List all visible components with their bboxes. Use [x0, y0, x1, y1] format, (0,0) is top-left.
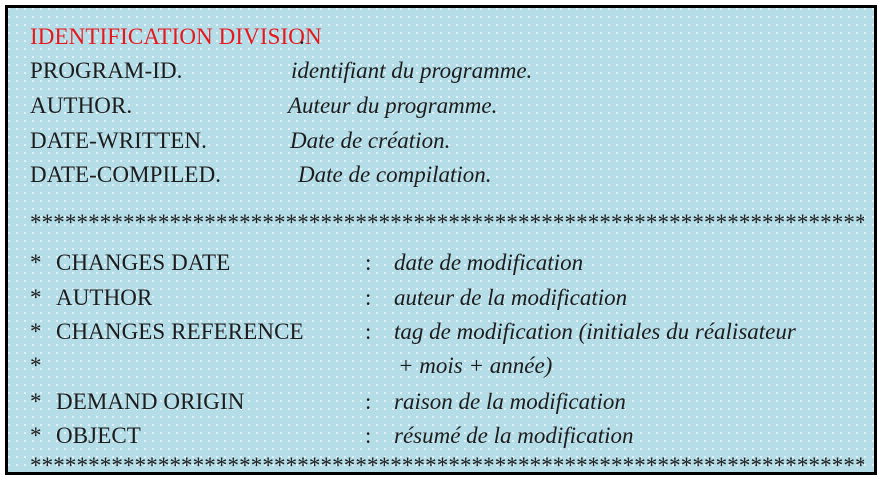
comment-label-author: AUTHOR — [56, 283, 152, 313]
division-title-period: . — [299, 22, 305, 52]
division-title: IDENTIFICATION DIVISION — [30, 22, 322, 52]
entry-line-date-written: DATE-WRITTEN. Date de création. — [8, 126, 874, 156]
comment-star-icon: * — [30, 421, 42, 451]
entry-description-date-compiled: Date de compilation. — [298, 160, 492, 190]
entry-keyword-date-compiled: DATE-COMPILED. — [30, 160, 221, 190]
entry-keyword-author: AUTHOR. — [30, 91, 132, 121]
comment-row-demand-origin: * DEMAND ORIGIN : raison de la modificat… — [8, 387, 874, 417]
comment-colon-object: : — [365, 421, 371, 451]
comment-star-icon: * — [30, 283, 42, 313]
comment-description-object: résumé de la modification — [394, 421, 634, 451]
entry-description-author: Auteur du programme. — [288, 91, 497, 121]
comment-colon-changes-date: : — [365, 248, 371, 278]
comment-star-icon: * — [30, 317, 42, 347]
comment-colon-demand-origin: : — [365, 387, 371, 417]
entry-keyword-date-written: DATE-WRITTEN. — [30, 126, 207, 156]
comment-description-demand-origin: raison de la modification — [394, 387, 626, 417]
comment-colon-author: : — [365, 283, 371, 313]
separator-line-bottom: ****************************************… — [30, 451, 864, 475]
comment-row-author: * AUTHOR : auteur de la modification — [8, 283, 874, 313]
separator-line-top: ****************************************… — [30, 208, 864, 238]
entry-description-date-written: Date de création. — [290, 126, 450, 156]
comment-description-author: auteur de la modification — [394, 283, 627, 313]
comment-label-demand-origin: DEMAND ORIGIN — [56, 387, 244, 417]
comment-colon-changes-reference: : — [365, 317, 371, 347]
entry-keyword-program-id: PROGRAM-ID. — [30, 56, 183, 86]
comment-row-continuation: * + mois + année) — [8, 351, 874, 381]
cobol-code-block: IDENTIFICATION DIVISION . PROGRAM-ID. id… — [5, 5, 877, 475]
comment-description-changes-date: date de modification — [394, 248, 583, 278]
comment-description-continuation: + mois + année) — [398, 351, 552, 381]
entry-line-author: AUTHOR. Auteur du programme. — [8, 91, 874, 121]
comment-row-changes-date: * CHANGES DATE : date de modification — [8, 248, 874, 278]
entry-line-program-id: PROGRAM-ID. identifiant du programme. — [8, 56, 874, 86]
entry-description-program-id: identifiant du programme. — [291, 56, 532, 86]
comment-star-icon: * — [30, 248, 42, 278]
comment-star-icon: * — [30, 387, 42, 417]
comment-row-object: * OBJECT : résumé de la modification — [8, 421, 874, 451]
comment-label-changes-reference: CHANGES REFERENCE — [56, 317, 304, 347]
comment-label-changes-date: CHANGES DATE — [56, 248, 230, 278]
entry-line-date-compiled: DATE-COMPILED. Date de compilation. — [8, 160, 874, 190]
comment-description-changes-reference: tag de modification (initiales du réalis… — [394, 317, 796, 347]
division-header-line: IDENTIFICATION DIVISION . — [8, 22, 874, 52]
comment-label-object: OBJECT — [56, 421, 141, 451]
comment-row-changes-reference: * CHANGES REFERENCE : tag de modificatio… — [8, 317, 874, 347]
comment-star-icon: * — [30, 351, 42, 381]
